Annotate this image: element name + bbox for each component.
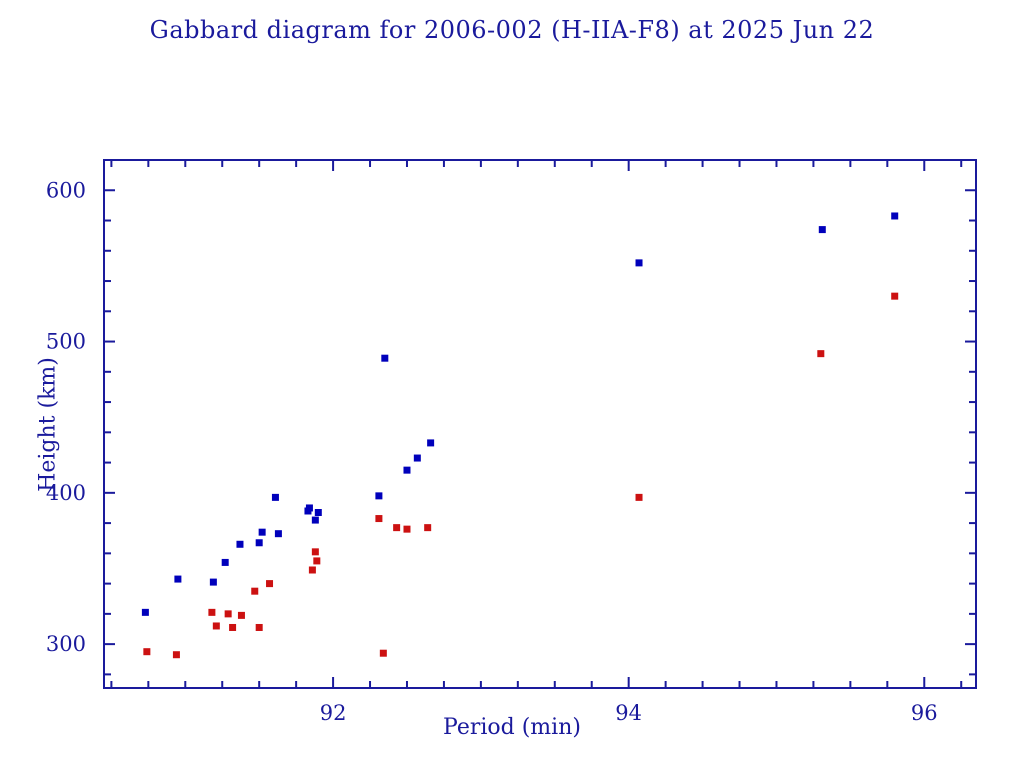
- data-point-perigee: [229, 624, 236, 631]
- data-point-perigee: [238, 612, 245, 619]
- data-point-apogee: [636, 259, 643, 266]
- data-point-perigee: [173, 651, 180, 658]
- plot-frame: [104, 160, 976, 688]
- data-point-perigee: [891, 293, 898, 300]
- data-point-apogee: [315, 509, 322, 516]
- data-point-perigee: [403, 526, 410, 533]
- data-point-apogee: [256, 539, 263, 546]
- data-point-apogee: [236, 541, 243, 548]
- data-point-apogee: [210, 579, 217, 586]
- data-point-apogee: [142, 609, 149, 616]
- data-point-perigee: [375, 515, 382, 522]
- data-point-apogee: [819, 226, 826, 233]
- data-point-apogee: [403, 467, 410, 474]
- data-point-perigee: [143, 648, 150, 655]
- gabbard-diagram-figure: Gabbard diagram for 2006-002 (H-IIA-F8) …: [0, 0, 1024, 768]
- data-point-apogee: [174, 576, 181, 583]
- series-apogee: [142, 212, 898, 615]
- series-perigee: [143, 293, 898, 659]
- x-axis-label: Period (min): [0, 715, 1024, 740]
- data-point-perigee: [266, 580, 273, 587]
- data-point-apogee: [304, 507, 311, 514]
- data-point-perigee: [817, 350, 824, 357]
- data-point-perigee: [251, 588, 258, 595]
- data-point-perigee: [208, 609, 215, 616]
- y-tick-label: 600: [46, 178, 86, 202]
- data-point-apogee: [375, 492, 382, 499]
- data-point-perigee: [256, 624, 263, 631]
- y-tick-label: 300: [46, 632, 86, 656]
- data-point-perigee: [225, 610, 232, 617]
- data-point-perigee: [636, 494, 643, 501]
- data-point-apogee: [414, 455, 421, 462]
- data-point-apogee: [259, 529, 266, 536]
- data-point-apogee: [427, 439, 434, 446]
- data-point-apogee: [222, 559, 229, 566]
- data-point-apogee: [312, 517, 319, 524]
- plot-area: 929496300400500600: [0, 0, 1024, 768]
- data-point-perigee: [213, 622, 220, 629]
- data-point-perigee: [393, 524, 400, 531]
- data-point-apogee: [381, 355, 388, 362]
- data-point-perigee: [313, 557, 320, 564]
- data-point-apogee: [275, 530, 282, 537]
- data-point-perigee: [424, 524, 431, 531]
- data-point-apogee: [891, 212, 898, 219]
- data-point-apogee: [272, 494, 279, 501]
- y-axis-label: Height (km): [36, 325, 61, 525]
- data-point-perigee: [380, 650, 387, 657]
- data-point-perigee: [309, 566, 316, 573]
- data-point-perigee: [312, 548, 319, 555]
